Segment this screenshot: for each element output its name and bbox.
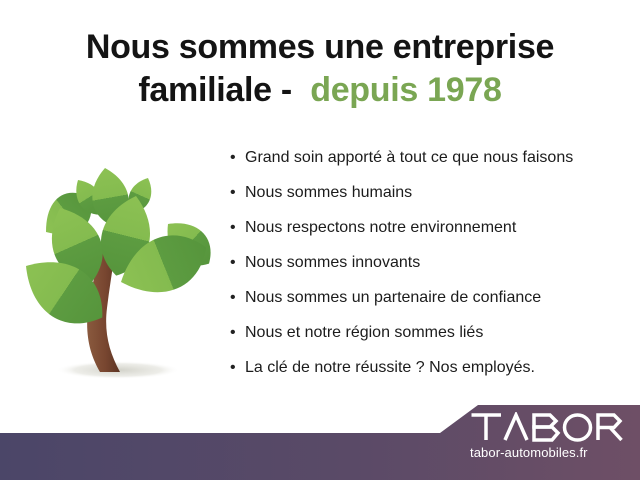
brand-tagline: tabor-automobiles.fr [470,445,640,460]
list-item: • Nous respectons notre environnement [230,218,630,237]
list-item-label: Nous sommes innovants [245,253,420,272]
bullet-marker-icon: • [230,253,245,272]
list-item: • Nous sommes humains [230,183,630,202]
brand-logo[interactable]: tabor-automobiles.fr [470,412,640,460]
slide-canvas: Nous sommes une entreprise familiale - d… [0,0,640,480]
headline-line-2: familiale - depuis 1978 [0,69,640,112]
tree-graphic [8,150,224,390]
list-item: • Nous sommes innovants [230,253,630,272]
bullet-marker-icon: • [230,323,245,342]
list-item-label: Nous sommes humains [245,183,412,202]
list-item: • Nous sommes un partenaire de confiance [230,288,630,307]
bullet-marker-icon: • [230,358,245,377]
bullet-marker-icon: • [230,218,245,237]
tabor-wordmark-icon [470,412,630,442]
bullet-marker-icon: • [230,148,245,167]
headline-line-2-prefix: familiale - [138,71,310,109]
tree-illustration [8,150,224,390]
bullet-marker-icon: • [230,183,245,202]
list-item-label: La clé de notre réussite ? Nos employés. [245,358,535,377]
list-item-label: Nous respectons notre environnement [245,218,516,237]
list-item: • La clé de notre réussite ? Nos employé… [230,358,630,377]
headline-line-1: Nous sommes une entreprise [0,26,640,69]
list-item-label: Grand soin apporté à tout ce que nous fa… [245,148,573,167]
bullet-marker-icon: • [230,288,245,307]
list-item: • Grand soin apporté à tout ce que nous … [230,148,630,167]
list-item-label: Nous sommes un partenaire de confiance [245,288,541,307]
list-item: • Nous et notre région sommes liés [230,323,630,342]
page-title: Nous sommes une entreprise familiale - d… [0,26,640,111]
headline-accent-text: depuis 1978 [310,71,501,109]
benefits-list: • Grand soin apporté à tout ce que nous … [230,148,630,393]
list-item-label: Nous et notre région sommes liés [245,323,483,342]
